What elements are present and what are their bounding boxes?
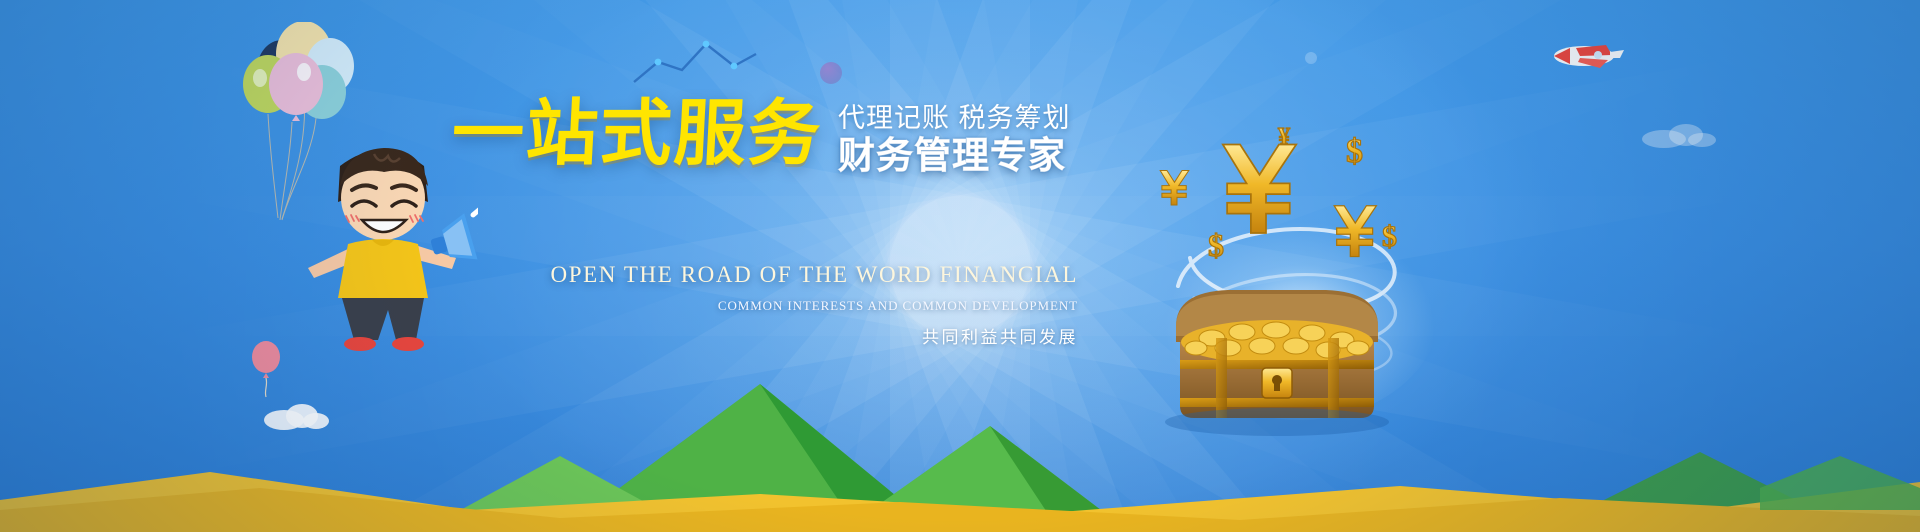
banner-tagline-group: OPEN THE ROAD OF THE WORD FINANCIAL COMM… bbox=[0, 262, 1078, 348]
tagline-english-secondary: COMMON INTERESTS AND COMMON DEVELOPMENT bbox=[0, 298, 1078, 314]
banner-subheading-services: 代理记账 税务筹划 bbox=[838, 104, 1071, 132]
tagline-english-primary: OPEN THE ROAD OF THE WORD FINANCIAL bbox=[0, 262, 1078, 288]
banner-subheading-group: 代理记账 税务筹划 财务管理专家 bbox=[838, 104, 1071, 177]
banner-subheading-expert: 财务管理专家 bbox=[838, 136, 1071, 177]
tagline-chinese: 共同利益共同发展 bbox=[0, 323, 1078, 348]
banner-text-block: 一站式服务 代理记账 税务筹划 财务管理专家 OPEN THE ROAD OF … bbox=[0, 0, 1920, 532]
banner-headline: 一站式服务 bbox=[450, 98, 824, 170]
promotional-banner: $ $ $ ¥ bbox=[0, 0, 1920, 532]
